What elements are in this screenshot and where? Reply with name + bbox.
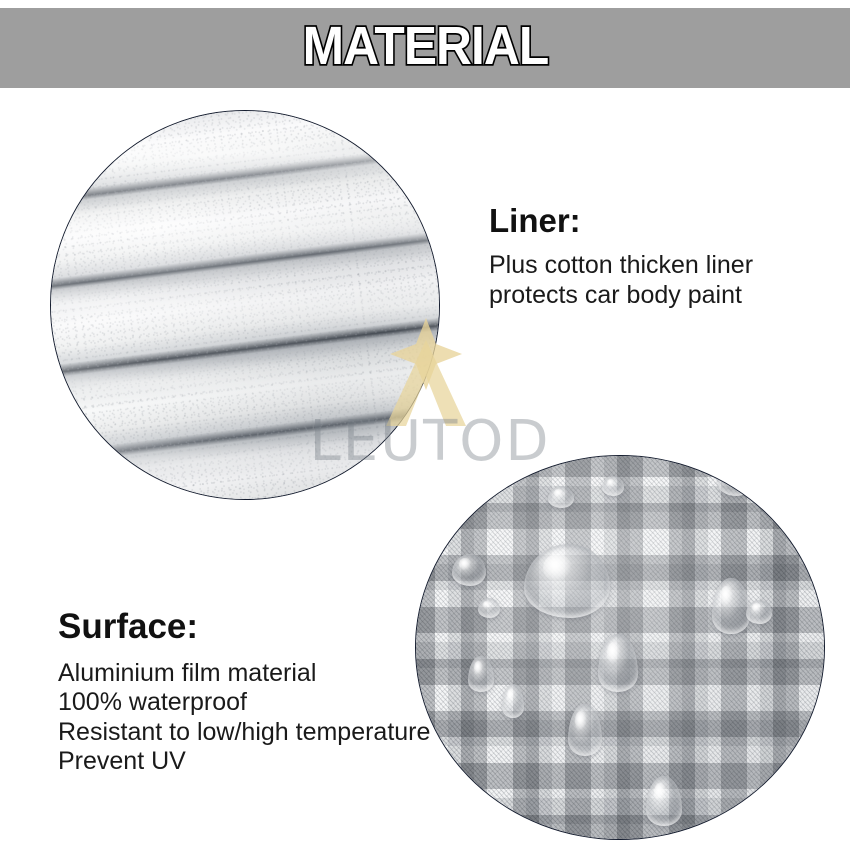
liner-fabric-texture <box>50 110 440 500</box>
liner-heading: Liner: <box>489 203 753 239</box>
surface-line-4: Prevent UV <box>58 747 430 777</box>
checker-overlay <box>415 455 825 840</box>
material-infographic: MATERIAL Liner: Plus cotton thicken line… <box>0 0 850 850</box>
liner-line-2: protects car body paint <box>489 281 753 311</box>
surface-text-block: Surface: Aluminium film material 100% wa… <box>58 608 430 777</box>
surface-line-1: Aluminium film material <box>58 659 430 689</box>
checkered-weave-texture <box>415 455 825 840</box>
surface-line-2: 100% waterproof <box>58 688 430 718</box>
page-title: MATERIAL <box>302 19 548 77</box>
header-banner: MATERIAL <box>0 8 850 88</box>
liner-padding-photo <box>50 110 440 500</box>
surface-line-3: Resistant to low/high temperature <box>58 718 430 748</box>
waterproof-surface-photo <box>415 455 825 840</box>
liner-line-1: Plus cotton thicken liner <box>489 251 753 281</box>
surface-heading: Surface: <box>58 608 430 647</box>
liner-text-block: Liner: Plus cotton thicken liner protect… <box>489 203 753 310</box>
